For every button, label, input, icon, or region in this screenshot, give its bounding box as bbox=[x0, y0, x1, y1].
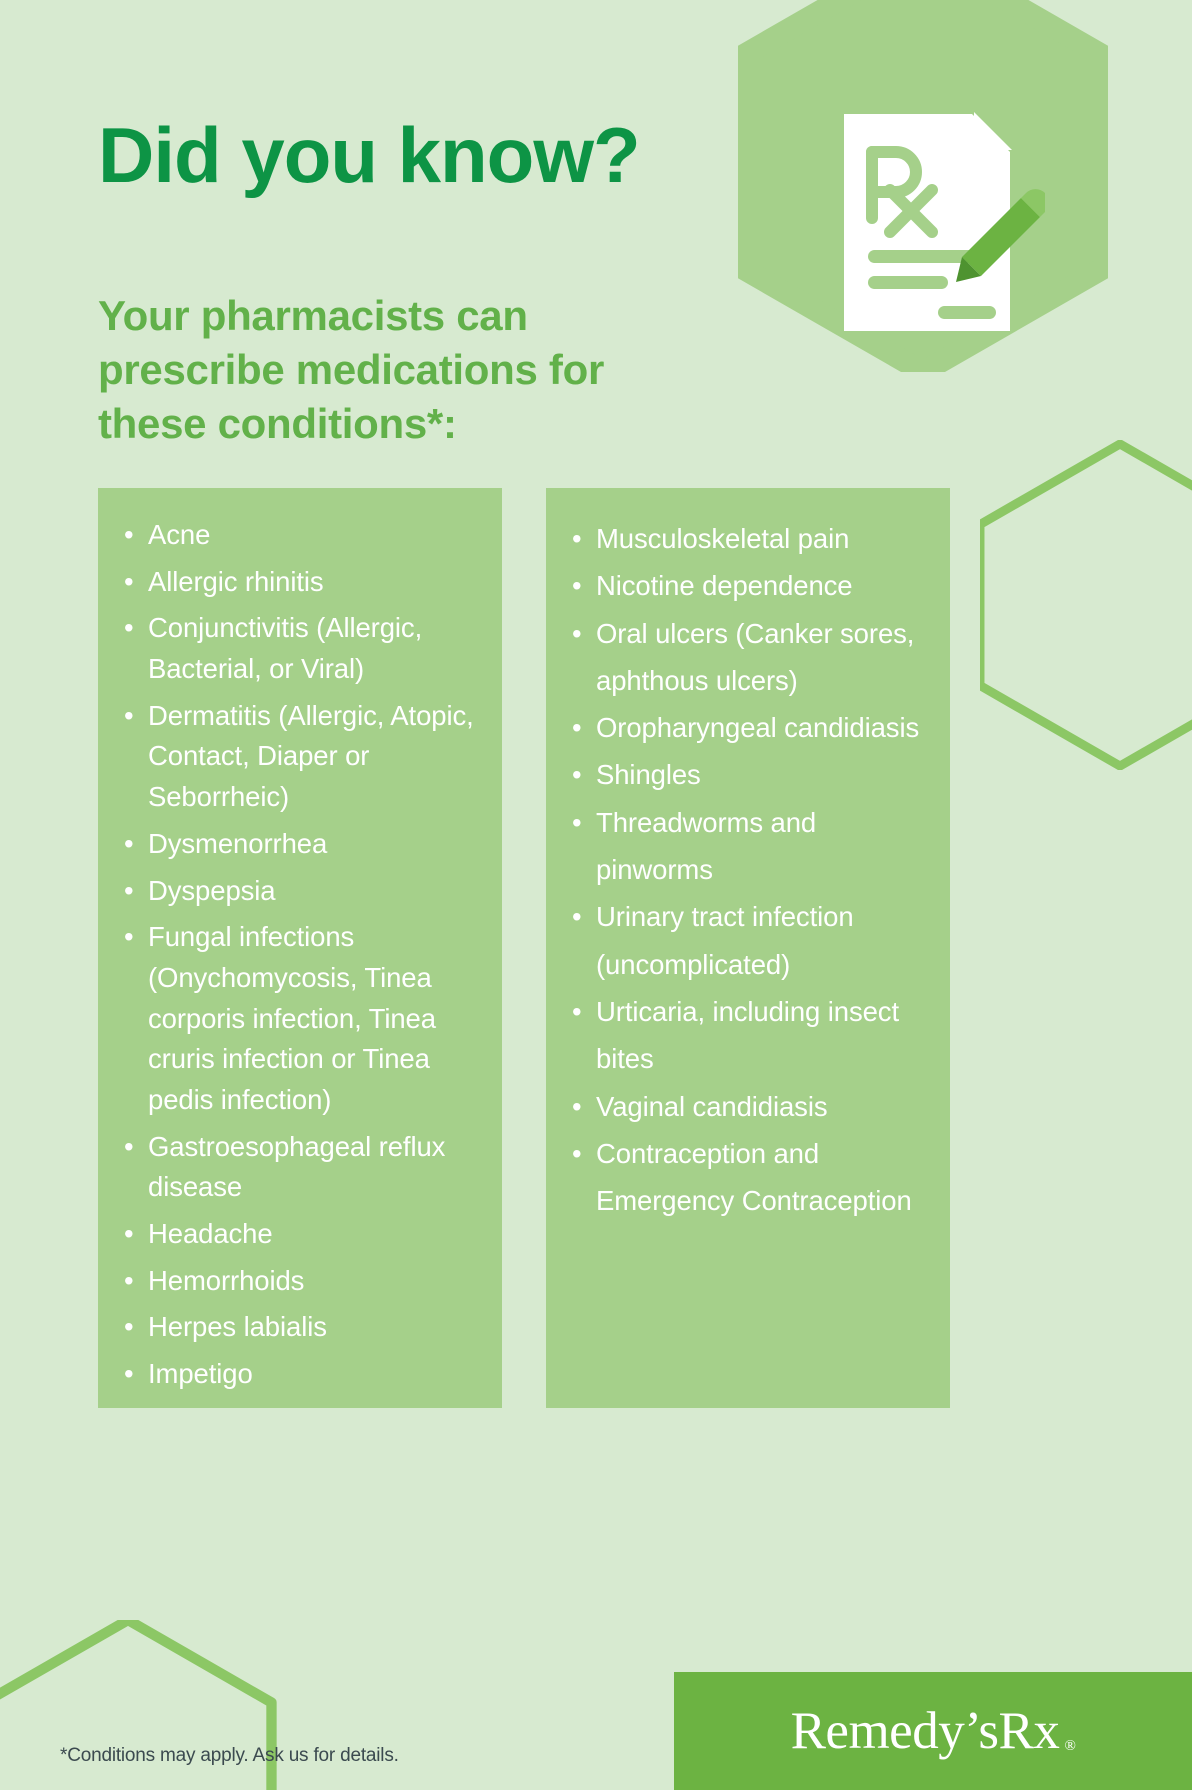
list-item: Musculoskeletal pain bbox=[568, 515, 932, 562]
logo-wordmark: Remedy’sRx ® bbox=[791, 1701, 1076, 1761]
conditions-list-left: AcneAllergic rhinitisConjunctivitis (All… bbox=[98, 488, 502, 1395]
list-item: Allergic rhinitis bbox=[120, 562, 484, 603]
list-item: Herpes labialis bbox=[120, 1307, 484, 1348]
brand-logo: Remedy’sRx ® bbox=[674, 1672, 1192, 1790]
hexagon-outline-icon bbox=[980, 440, 1192, 770]
page-subtitle: Your pharmacists can prescribe medicatio… bbox=[98, 289, 658, 450]
list-item: Oropharyngeal candidiasis bbox=[568, 704, 932, 751]
poster-canvas: Did you know? Your pharmacists can presc… bbox=[0, 0, 1192, 1790]
logo-text: Remedy’sRx bbox=[791, 1702, 1060, 1760]
list-item: Dyspepsia bbox=[120, 871, 484, 912]
list-item: Urinary tract infection (uncomplicated) bbox=[568, 893, 932, 988]
list-item: Dysmenorrhea bbox=[120, 824, 484, 865]
list-item: Nicotine dependence bbox=[568, 562, 932, 609]
conditions-panel-right: Musculoskeletal painNicotine dependenceO… bbox=[546, 488, 950, 1408]
list-item: Headache bbox=[120, 1214, 484, 1255]
list-item: Vaginal candidiasis bbox=[568, 1083, 932, 1130]
list-item: Fungal infections (Onychomycosis, Tinea … bbox=[120, 917, 484, 1120]
page-title: Did you know? bbox=[98, 116, 640, 194]
footnote-text: *Conditions may apply. Ask us for detail… bbox=[60, 1745, 399, 1767]
list-item: Gastroesophageal reflux disease bbox=[120, 1127, 484, 1208]
list-item: Shingles bbox=[568, 751, 932, 798]
list-item: Oral ulcers (Canker sores, aphthous ulce… bbox=[568, 610, 932, 705]
list-item: Acne bbox=[120, 515, 484, 556]
list-item: Threadworms and pinworms bbox=[568, 799, 932, 894]
rx-prescription-document-icon bbox=[840, 110, 1045, 335]
list-item: Conjunctivitis (Allergic, Bacterial, or … bbox=[120, 608, 484, 689]
registered-trademark-icon: ® bbox=[1065, 1738, 1076, 1755]
list-item: Hemorrhoids bbox=[120, 1261, 484, 1302]
list-item: Dermatitis (Allergic, Atopic, Contact, D… bbox=[120, 696, 484, 818]
list-item: Impetigo bbox=[120, 1354, 484, 1395]
conditions-list-right: Musculoskeletal painNicotine dependenceO… bbox=[546, 488, 950, 1224]
list-item: Urticaria, including insect bites bbox=[568, 988, 932, 1083]
conditions-panel-left: AcneAllergic rhinitisConjunctivitis (All… bbox=[98, 488, 502, 1408]
list-item: Contraception and Emergency Contraceptio… bbox=[568, 1130, 932, 1225]
